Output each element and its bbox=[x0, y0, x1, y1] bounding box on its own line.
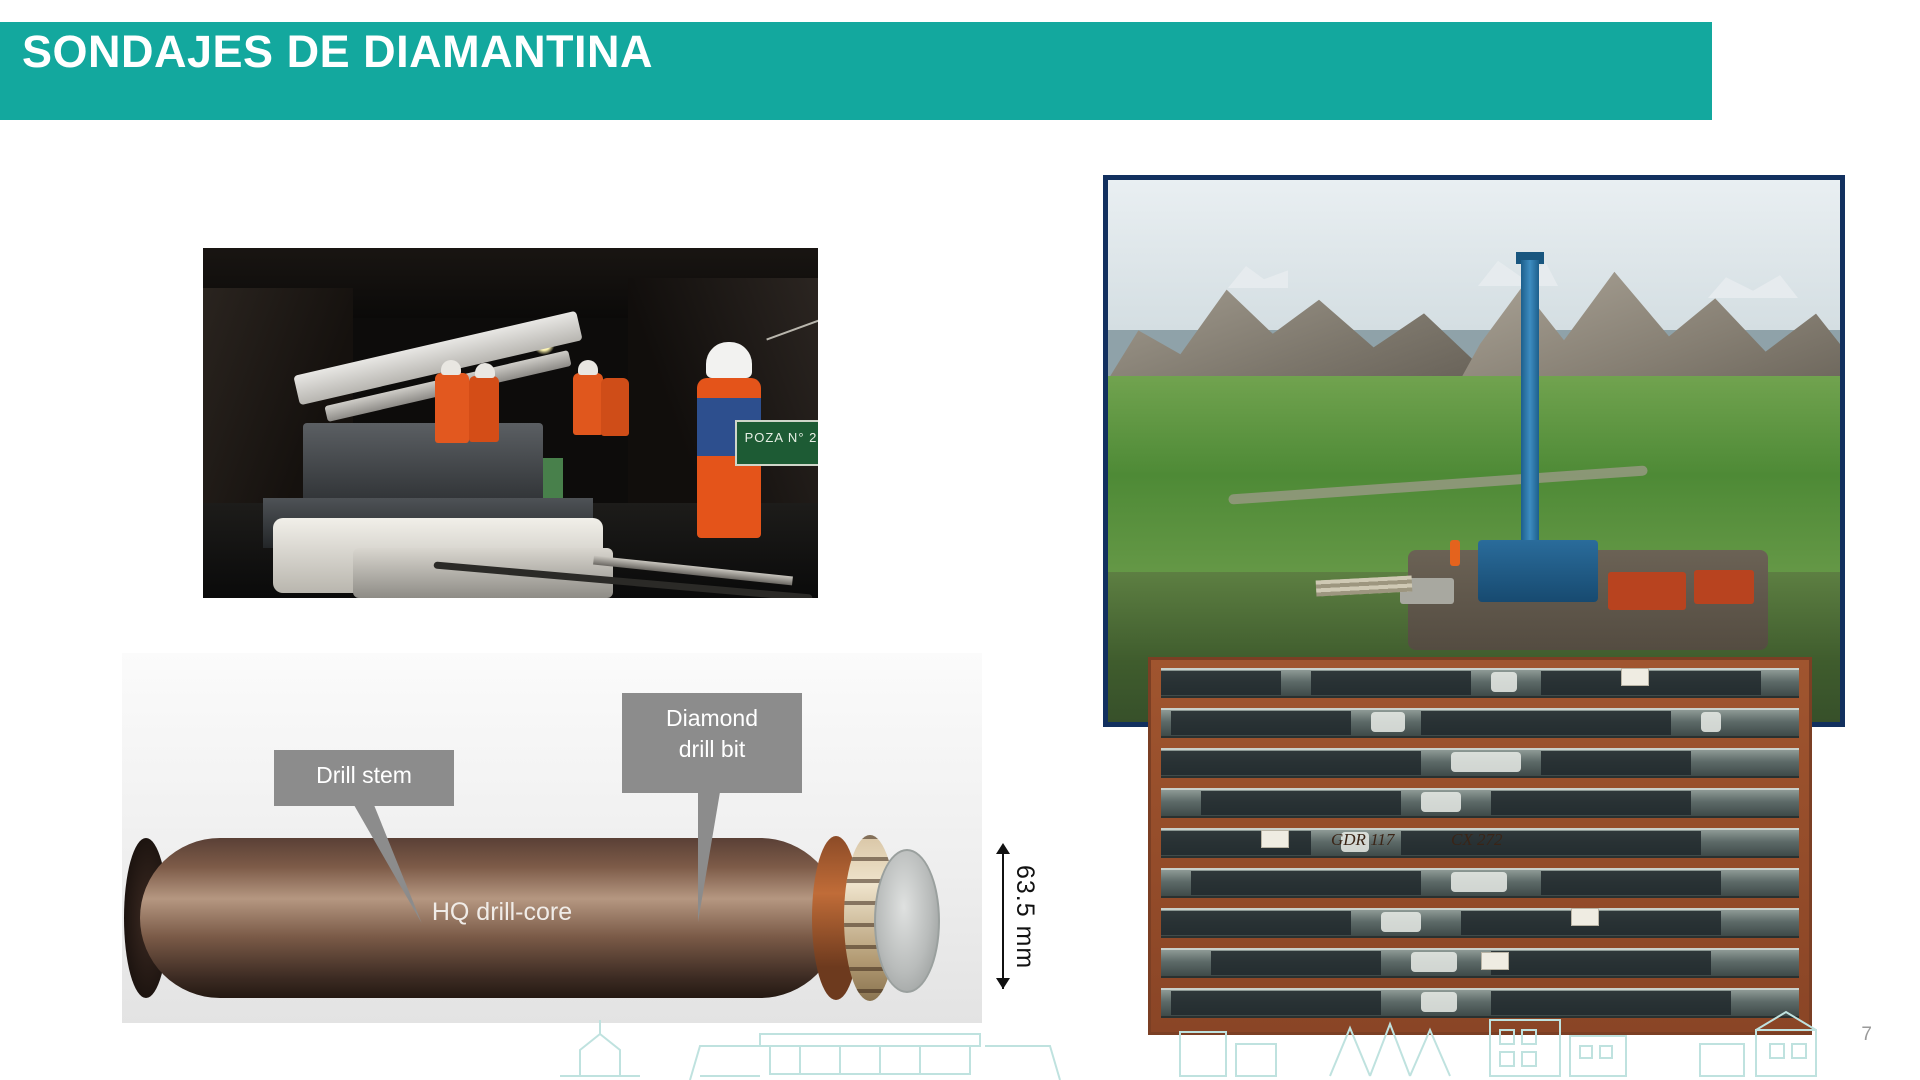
callout-drill-stem: Drill stem bbox=[274, 750, 454, 806]
helmet-icon bbox=[441, 360, 461, 375]
core-row bbox=[1161, 948, 1799, 978]
callout-diamond-drill-bit-line1: Diamond bbox=[636, 703, 788, 734]
core-row bbox=[1161, 908, 1799, 938]
worker-figure bbox=[573, 373, 603, 435]
core-box-label-2: CX 272 bbox=[1451, 830, 1502, 850]
worker-figure bbox=[435, 373, 469, 443]
core-depth-tag bbox=[1481, 952, 1509, 970]
support-truck bbox=[1694, 570, 1754, 604]
core-row bbox=[1161, 988, 1799, 1018]
drill-core-box-photo: GDR 117 CX 272 bbox=[1148, 657, 1812, 1035]
drill-rig-body bbox=[1478, 540, 1598, 602]
dimension-arrow-bottom bbox=[996, 978, 1010, 989]
core-depth-tag bbox=[1261, 830, 1289, 848]
worker-figure bbox=[1450, 540, 1460, 566]
core-row bbox=[1161, 668, 1799, 698]
core-row bbox=[1161, 868, 1799, 898]
hq-drill-core-diagram: HQ drill-core Drill stem Diamond drill b… bbox=[122, 653, 982, 1023]
callout-diamond-drill-bit-line2: drill bit bbox=[636, 734, 788, 765]
helmet-icon bbox=[578, 360, 598, 375]
worker-figure bbox=[469, 376, 499, 442]
page-title: SONDAJES DE DIAMANTINA bbox=[22, 26, 653, 78]
support-truck bbox=[1608, 572, 1686, 610]
core-row bbox=[1161, 708, 1799, 738]
underground-drill-rig-photo: POZA N° 2 bbox=[203, 248, 818, 598]
drill-mast bbox=[1521, 260, 1539, 560]
callout-pointer-drill-bit bbox=[698, 792, 720, 922]
surface-drill-rig-photo bbox=[1103, 175, 1845, 727]
dimension-line bbox=[1002, 849, 1004, 989]
core-depth-tag bbox=[1621, 668, 1649, 686]
helmet-icon bbox=[475, 363, 495, 378]
worker-figure bbox=[601, 378, 629, 436]
hard-hat-icon bbox=[706, 342, 752, 378]
dimension-label: 63.5 mm bbox=[1010, 865, 1039, 969]
core-row bbox=[1161, 748, 1799, 778]
page-number: 7 bbox=[1861, 1024, 1872, 1046]
core-depth-tag bbox=[1571, 908, 1599, 926]
drill-rig-base bbox=[303, 423, 543, 503]
core-box-label-1: GDR 117 bbox=[1331, 830, 1394, 850]
core-face-disc bbox=[874, 849, 940, 993]
core-row bbox=[1161, 788, 1799, 818]
tunnel-sign-text: POZA N° 2 bbox=[741, 430, 818, 445]
callout-diamond-drill-bit: Diamond drill bit bbox=[622, 693, 802, 793]
